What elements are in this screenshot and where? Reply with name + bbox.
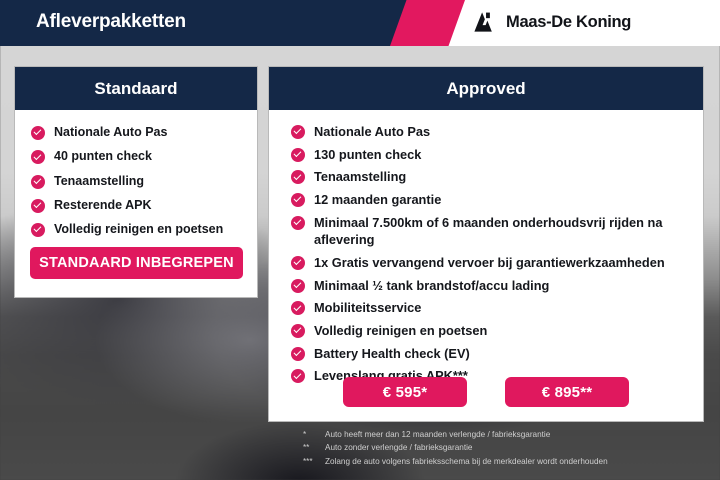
check-circle-icon <box>291 301 305 315</box>
list-item: Tenaamstelling <box>31 173 257 190</box>
list-item: Volledig reinigen en poetsen <box>31 221 257 238</box>
feature-list-approved: Nationale Auto Pas 130 punten check Tena… <box>269 110 703 385</box>
footnote-text: Auto zonder verlengde / fabrieksgarantie <box>325 441 703 454</box>
check-circle-icon <box>291 125 305 139</box>
feature-label: Volledig reinigen en poetsen <box>54 221 223 238</box>
list-item: Minimaal 7.500km of 6 maanden onderhouds… <box>291 214 703 249</box>
list-item: Volledig reinigen en poetsen <box>291 322 703 340</box>
check-circle-icon <box>31 126 45 140</box>
list-item: Mobiliteitsservice <box>291 299 703 317</box>
check-circle-icon <box>31 150 45 164</box>
feature-label: Nationale Auto Pas <box>54 124 167 141</box>
check-circle-icon <box>291 148 305 162</box>
footnote-text: Auto heeft meer dan 12 maanden verlengde… <box>325 428 703 441</box>
brand-logo: Maas-De Koning <box>472 10 631 34</box>
package-card-approved: Approved Nationale Auto Pas 130 punten c… <box>268 66 704 422</box>
footnote-row: *** Zolang de auto volgens fabrieksschem… <box>303 455 703 468</box>
footnote-marker: *** <box>303 455 325 468</box>
feature-label: Tenaamstelling <box>54 173 144 190</box>
footnote-marker: ** <box>303 441 325 454</box>
footnote-row: ** Auto zonder verlengde / fabrieksgaran… <box>303 441 703 454</box>
price-button-895[interactable]: € 895** <box>505 377 629 407</box>
check-circle-icon <box>291 347 305 361</box>
check-circle-icon <box>291 279 305 293</box>
list-item: Tenaamstelling <box>291 168 703 186</box>
check-circle-icon <box>31 175 45 189</box>
list-item: 130 punten check <box>291 146 703 164</box>
price-button-595[interactable]: € 595* <box>343 377 467 407</box>
check-circle-icon <box>291 216 305 230</box>
feature-label: Minimaal 7.500km of 6 maanden onderhouds… <box>314 214 687 249</box>
list-item: Resterende APK <box>31 197 257 214</box>
standaard-inbegrepen-button[interactable]: STANDAARD INBEGREPEN <box>30 247 243 279</box>
page-title: Afleverpakketten <box>36 11 186 33</box>
check-circle-icon <box>31 199 45 213</box>
check-circle-icon <box>291 193 305 207</box>
package-card-standaard: Standaard Nationale Auto Pas 40 punten c… <box>14 66 258 298</box>
list-item: Nationale Auto Pas <box>31 124 257 141</box>
feature-label: Volledig reinigen en poetsen <box>314 322 487 340</box>
footnote-text: Zolang de auto volgens fabrieksschema bi… <box>325 455 703 468</box>
feature-label: 130 punten check <box>314 146 421 164</box>
list-item: Battery Health check (EV) <box>291 345 703 363</box>
price-button-row: € 595* € 895** <box>269 377 703 407</box>
feature-label: Minimaal ½ tank brandstof/accu lading <box>314 277 549 295</box>
card-title-standaard: Standaard <box>15 67 257 110</box>
feature-label: Nationale Auto Pas <box>314 123 430 141</box>
maas-de-koning-m-logo-icon <box>472 10 497 34</box>
check-circle-icon <box>291 256 305 270</box>
footnote-row: * Auto heeft meer dan 12 maanden verleng… <box>303 428 703 441</box>
feature-list-standaard: Nationale Auto Pas 40 punten check Tenaa… <box>15 110 257 238</box>
list-item: Nationale Auto Pas <box>291 123 703 141</box>
check-circle-icon <box>31 223 45 237</box>
list-item: 1x Gratis vervangend vervoer bij garanti… <box>291 254 703 272</box>
feature-label: Mobiliteitsservice <box>314 299 421 317</box>
feature-label: 40 punten check <box>54 148 152 165</box>
list-item: 40 punten check <box>31 148 257 165</box>
footnotes: * Auto heeft meer dan 12 maanden verleng… <box>303 428 703 468</box>
brand-name: Maas-De Koning <box>506 13 631 32</box>
feature-label: Resterende APK <box>54 197 152 214</box>
feature-label: 1x Gratis vervangend vervoer bij garanti… <box>314 254 665 272</box>
feature-label: 12 maanden garantie <box>314 191 441 209</box>
list-item: 12 maanden garantie <box>291 191 703 209</box>
check-circle-icon <box>291 324 305 338</box>
feature-label: Battery Health check (EV) <box>314 345 470 363</box>
feature-label: Tenaamstelling <box>314 168 406 186</box>
card-title-approved: Approved <box>269 67 703 110</box>
footnote-marker: * <box>303 428 325 441</box>
page-header: Afleverpakketten Maas-De Koning <box>0 0 720 46</box>
list-item: Minimaal ½ tank brandstof/accu lading <box>291 277 703 295</box>
check-circle-icon <box>291 170 305 184</box>
